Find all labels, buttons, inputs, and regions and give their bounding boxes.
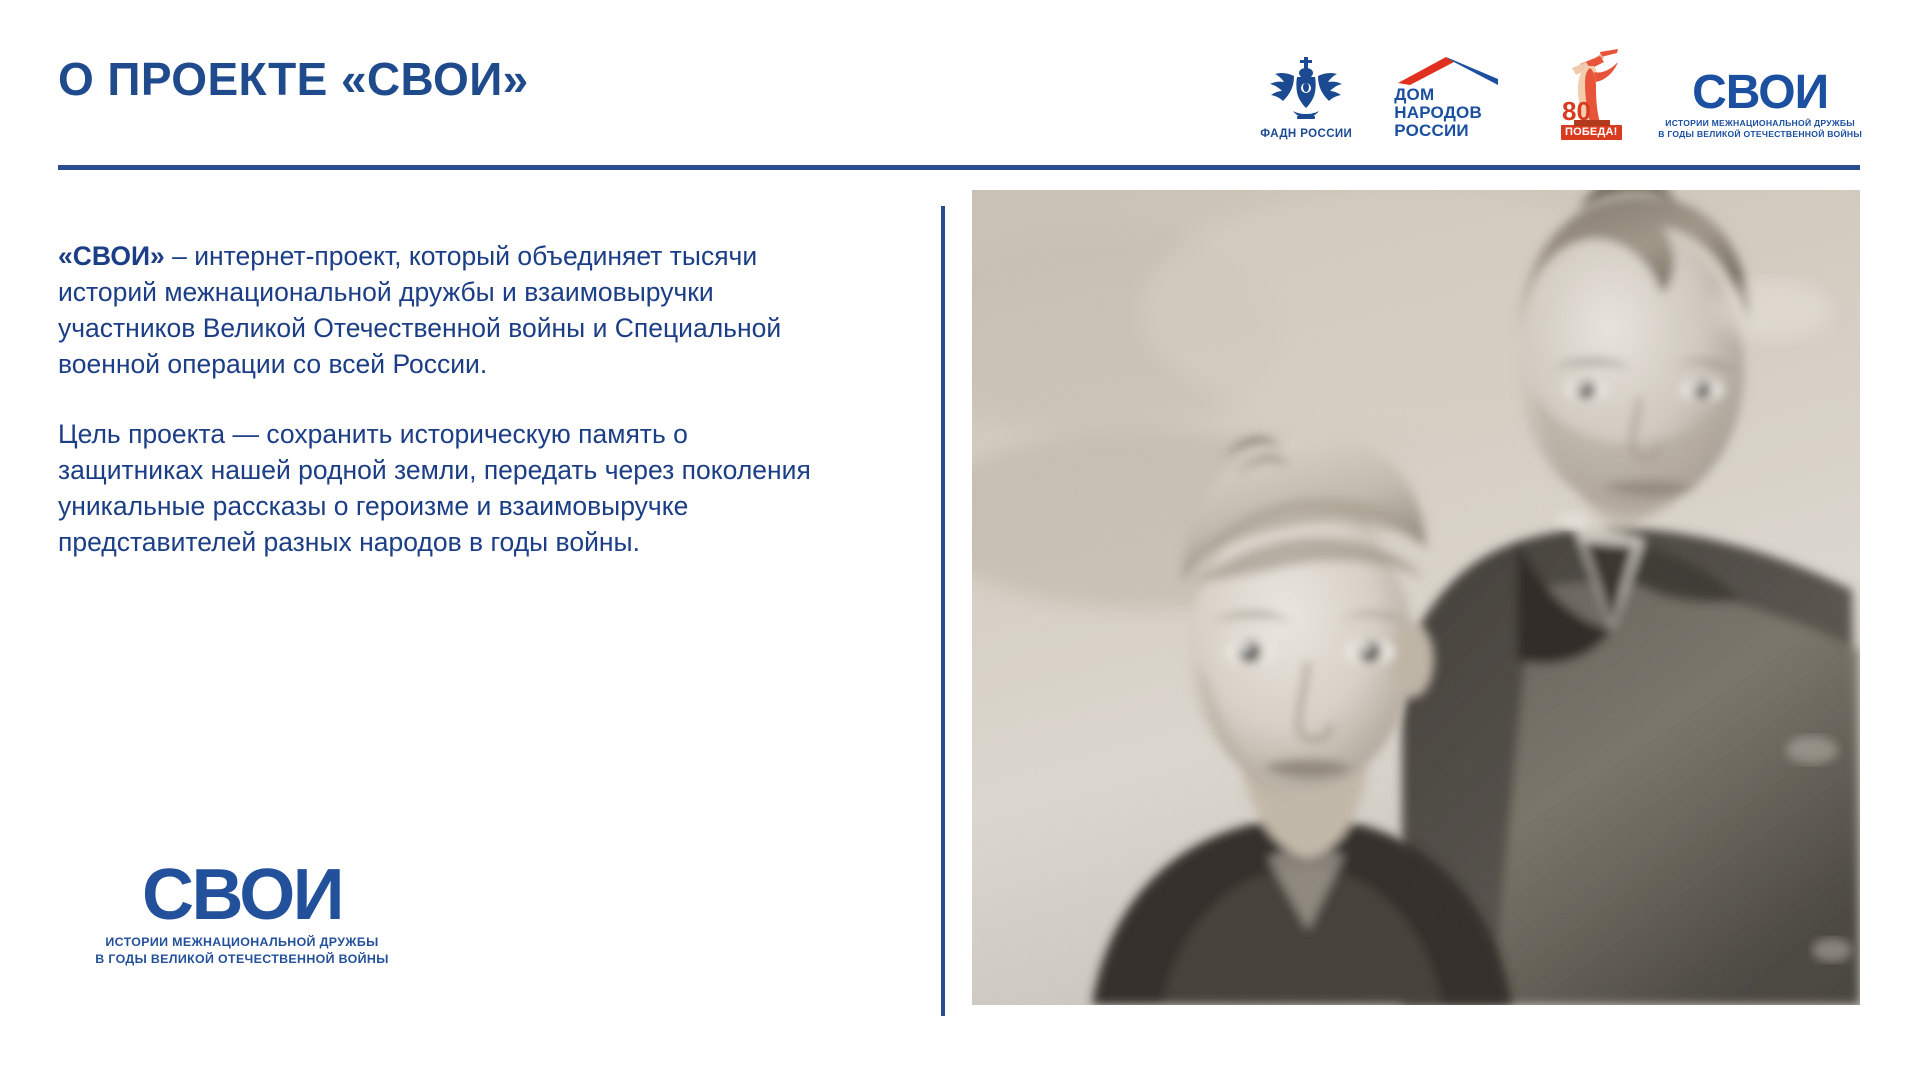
about-project-copy: «СВОИ» – интернет-проект, который объеди… [58, 238, 818, 560]
logo-svoi-footer-tagline-line2: В ГОДЫ ВЕЛИКОЙ ОТЕЧЕСТВЕННОЙ ВОЙНЫ [72, 951, 412, 968]
logo-dnr-line1: ДОМ [1394, 86, 1482, 104]
motherland-calls-statue-icon: 80 [1560, 48, 1622, 128]
paragraph-intro: «СВОИ» – интернет-проект, который объеди… [58, 238, 818, 382]
logo-svoi-footer-tagline-line1: ИСТОРИИ МЕЖНАЦИОНАЛЬНОЙ ДРУЖБЫ [72, 934, 412, 951]
logo-svoi-header-tagline-line2: В ГОДЫ ВЕЛИКОЙ ОТЕЧЕСТВЕННОЙ ВОЙНЫ [1658, 129, 1862, 140]
logo-svoi-footer: СВОИ ИСТОРИИ МЕЖНАЦИОНАЛЬНОЙ ДРУЖБЫ В ГО… [72, 862, 412, 967]
logo-dnr-line3: РОССИИ [1394, 122, 1482, 140]
archive-photograph [972, 190, 1860, 1005]
logo-svoi-header: СВОИ ИСТОРИИ МЕЖНАЦИОНАЛЬНОЙ ДРУЖБЫ В ГО… [1658, 36, 1862, 140]
logo-fadn-rossii: ФАДН РОССИИ [1254, 36, 1358, 140]
logo-dnr-line2: НАРОДОВ [1394, 104, 1482, 122]
logo-dnr-text: ДОМ НАРОДОВ РОССИИ [1394, 86, 1482, 140]
paragraph-intro-lead: «СВОИ» [58, 241, 165, 271]
page-title: О ПРОЕКТЕ «СВОИ» [58, 52, 529, 106]
logo-80-pobeda: 80 ПОБЕДА! [1560, 36, 1622, 140]
logo-dom-narodov-rossii: ДОМ НАРОДОВ РОССИИ [1394, 36, 1524, 140]
paragraph-goal: Цель проекта — сохранить историческую па… [58, 416, 818, 560]
logo-fadn-caption: ФАДН РОССИИ [1260, 128, 1352, 140]
paragraph-intro-rest: – интернет-проект, который объединяет ты… [58, 241, 781, 379]
logo-svoi-footer-tagline: ИСТОРИИ МЕЖНАЦИОНАЛЬНОЙ ДРУЖБЫ В ГОДЫ ВЕ… [72, 934, 412, 967]
double-headed-eagle-icon [1267, 55, 1345, 125]
vintage-war-photograph [972, 190, 1860, 1005]
logo-svoi-header-tagline: ИСТОРИИ МЕЖНАЦИОНАЛЬНОЙ ДРУЖБЫ В ГОДЫ ВЕ… [1658, 118, 1862, 140]
vertical-divider [941, 206, 945, 1016]
svg-text:80: 80 [1562, 96, 1591, 126]
logo-svoi-header-wordmark: СВОИ [1692, 70, 1828, 115]
logo-svoi-footer-wordmark: СВОИ [72, 862, 412, 928]
house-roof-icon [1396, 55, 1500, 85]
header-logo-strip: ФАДН РОССИИ ДОМ НАРОДОВ РОССИИ [1254, 36, 1862, 140]
slide-canvas: О ПРОЕКТЕ «СВОИ» [0, 0, 1920, 1080]
title-divider-rule [58, 165, 1860, 170]
logo-svoi-header-tagline-line1: ИСТОРИИ МЕЖНАЦИОНАЛЬНОЙ ДРУЖБЫ [1658, 118, 1862, 129]
